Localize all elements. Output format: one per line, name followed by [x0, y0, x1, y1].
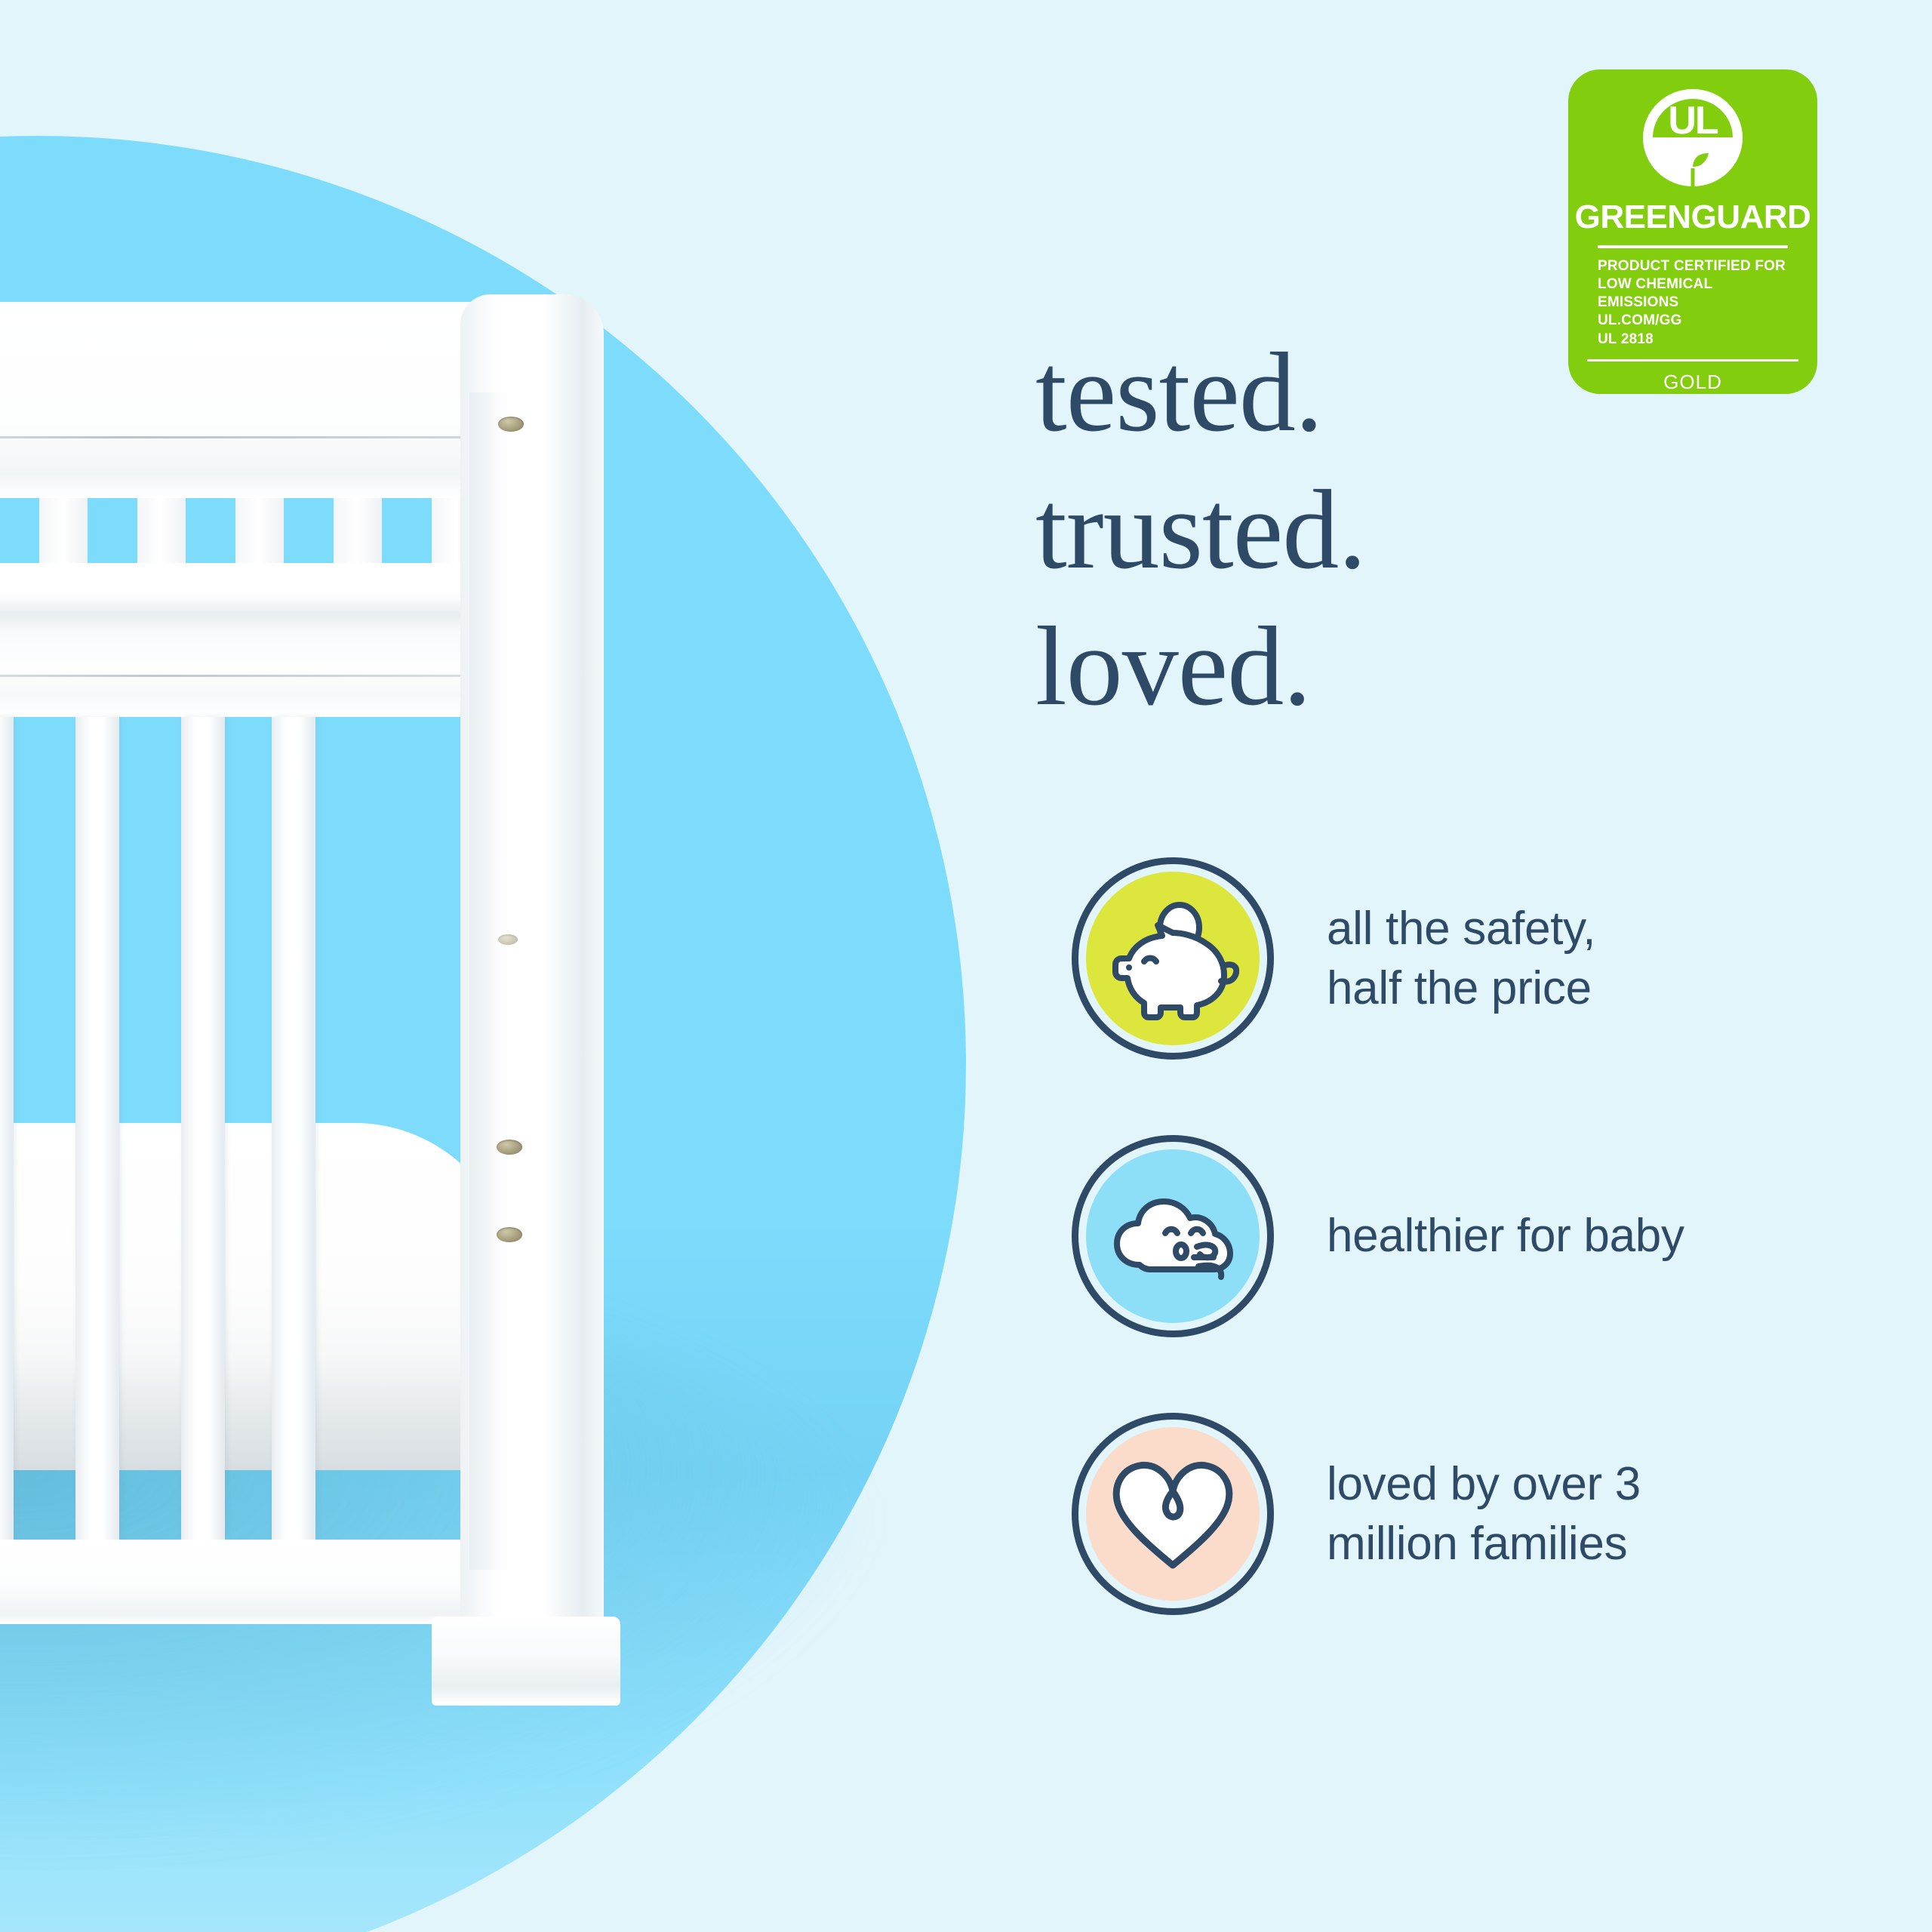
feature-list: all the safety, half the price healthier… [1072, 845, 1917, 1627]
feature-item-families: loved by over 3 million families [1072, 1401, 1917, 1627]
headline-line-3: loved. [1035, 598, 1835, 736]
marketing-image: UL GREENGUARD PRODUCT CERTIFIED FOR LOW … [0, 0, 1932, 1932]
feature-label: all the safety, half the price [1327, 899, 1595, 1019]
crib-screw-hole [497, 1227, 522, 1242]
headline-line-2: trusted. [1035, 462, 1835, 599]
crib-base-rail [0, 1540, 528, 1624]
badge-description-line: PRODUCT CERTIFIED FOR [1598, 257, 1788, 275]
badge-description-line: LOW CHEMICAL EMISSIONS [1598, 275, 1788, 312]
leaf-icon [1675, 150, 1710, 197]
crib-screw-hole [498, 934, 518, 945]
crib-foot [432, 1617, 620, 1706]
crib-product-image [0, 302, 815, 1736]
feature-label: healthier for baby [1327, 1206, 1684, 1266]
piggy-bank-icon [1072, 857, 1274, 1060]
cloud-blowing-icon [1072, 1135, 1274, 1337]
crib-screw-hole [497, 1140, 522, 1155]
feature-item-healthier: healthier for baby [1072, 1123, 1917, 1349]
headline: tested. trusted. loved. [1035, 325, 1835, 736]
crib-side-slats [0, 717, 528, 1555]
feature-label: loved by over 3 million families [1327, 1454, 1641, 1574]
ul-leaf-icon: UL [1643, 89, 1743, 186]
headline-line-1: tested. [1035, 325, 1835, 462]
badge-divider [1598, 245, 1788, 248]
crib-screw-hole [498, 417, 524, 432]
feature-item-safety-price: all the safety, half the price [1072, 845, 1917, 1072]
ul-logo-text: UL [1643, 101, 1743, 140]
greenguard-brand-name: GREENGUARD [1575, 198, 1811, 236]
heart-icon [1072, 1413, 1274, 1615]
crib-post-shadow [469, 392, 534, 1570]
